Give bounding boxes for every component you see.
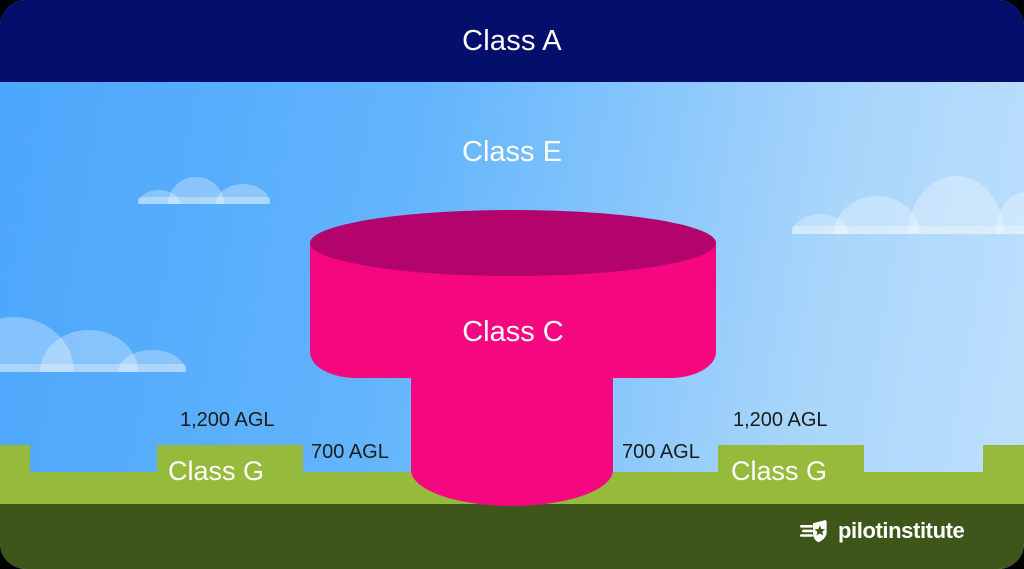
class-c-inner-cylinder: [411, 370, 613, 506]
class-c-shape: Class C: [0, 0, 1024, 569]
brand-logo-text: pilotinstitute: [838, 518, 964, 544]
altitude-label-700-left: 700 AGL: [311, 441, 389, 464]
screenshot-stage: Class A Class E Class G Class G Class C …: [0, 0, 1024, 569]
class-c-label: Class C: [310, 316, 716, 349]
altitude-label-1200-left: 1,200 AGL: [180, 409, 275, 432]
class-c-outer-cylinder-top: [310, 210, 716, 276]
altitude-label-1200-right: 1,200 AGL: [733, 409, 828, 432]
winged-shield-star-icon: [800, 517, 830, 545]
airspace-diagram-card: Class A Class E Class G Class G Class C …: [0, 0, 1024, 569]
altitude-label-700-right: 700 AGL: [622, 441, 700, 464]
brand-logo: pilotinstitute: [800, 517, 964, 545]
